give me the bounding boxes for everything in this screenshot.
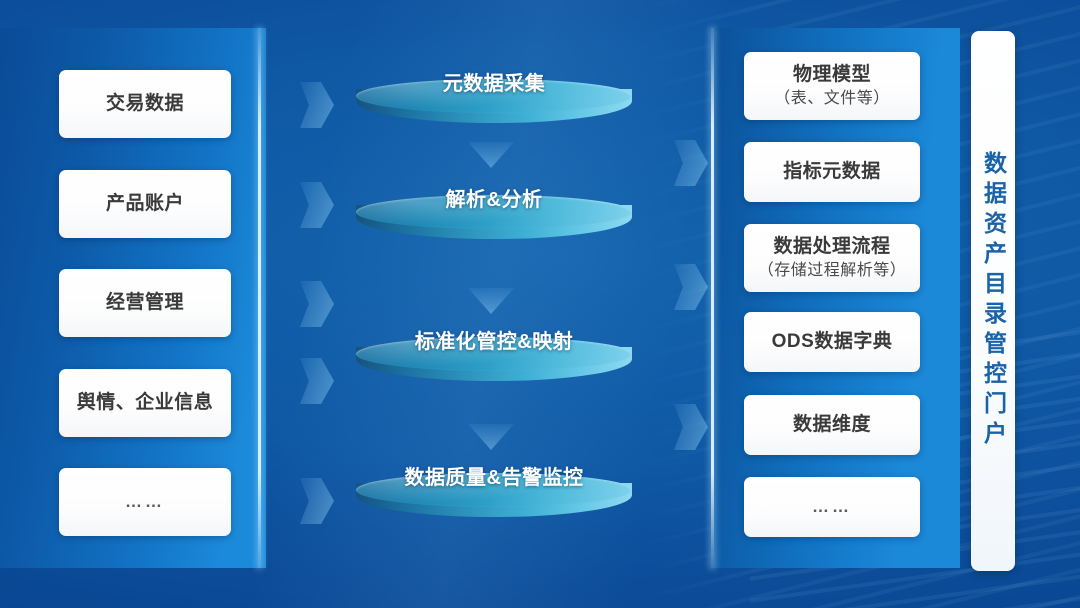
stage-label: 解析&分析 xyxy=(356,183,632,212)
card-subtitle: （存储过程解析等） xyxy=(758,261,907,281)
list-item[interactable]: ODS数据字典 xyxy=(744,312,920,372)
right-panel-divider xyxy=(711,28,714,568)
list-item[interactable]: 经营管理 xyxy=(59,269,231,337)
list-item[interactable]: …… xyxy=(744,477,920,537)
list-item[interactable]: 交易数据 xyxy=(59,70,231,138)
card-subtitle: （表、文件等） xyxy=(774,89,890,109)
card-title: 数据处理流程 xyxy=(773,235,890,259)
ellipsis-label: …… xyxy=(812,496,852,517)
pipeline-stage[interactable]: 数据质量&告警监控 xyxy=(356,473,632,535)
pipeline-stage[interactable]: 解析&分析 xyxy=(356,195,632,257)
pipeline-stage[interactable]: 元数据采集 xyxy=(356,79,632,141)
diagram-canvas: 交易数据 产品账户 经营管理 舆情、企业信息 …… 元数据采集 解析&分析 标准… xyxy=(0,0,1080,608)
card-title: ODS数据字典 xyxy=(772,330,893,354)
ellipsis-label: …… xyxy=(125,491,165,512)
pipeline-stage[interactable]: 标准化管控&映射 xyxy=(356,337,632,399)
stage-label: 数据质量&告警监控 xyxy=(356,461,632,490)
portal-label: 数据资产目录管控门户 xyxy=(982,151,1005,451)
portal-bar[interactable]: 数据资产目录管控门户 xyxy=(971,31,1015,571)
list-item[interactable]: 数据维度 xyxy=(744,395,920,455)
card-title: 指标元数据 xyxy=(783,160,881,184)
list-item[interactable]: …… xyxy=(59,468,231,536)
list-item[interactable]: 数据处理流程 （存储过程解析等） xyxy=(744,224,920,292)
card-title: 交易数据 xyxy=(106,92,184,116)
card-title: 经营管理 xyxy=(106,291,184,315)
left-panel-divider xyxy=(258,28,261,568)
stage-label: 标准化管控&映射 xyxy=(356,325,632,354)
card-title: 产品账户 xyxy=(106,192,184,216)
list-item[interactable]: 舆情、企业信息 xyxy=(59,369,231,437)
stage-label: 元数据采集 xyxy=(356,67,632,96)
card-title: 舆情、企业信息 xyxy=(77,391,214,415)
card-title: 物理模型 xyxy=(793,63,871,87)
list-item[interactable]: 产品账户 xyxy=(59,170,231,238)
list-item[interactable]: 指标元数据 xyxy=(744,142,920,202)
card-title: 数据维度 xyxy=(793,413,871,437)
list-item[interactable]: 物理模型 （表、文件等） xyxy=(744,52,920,120)
